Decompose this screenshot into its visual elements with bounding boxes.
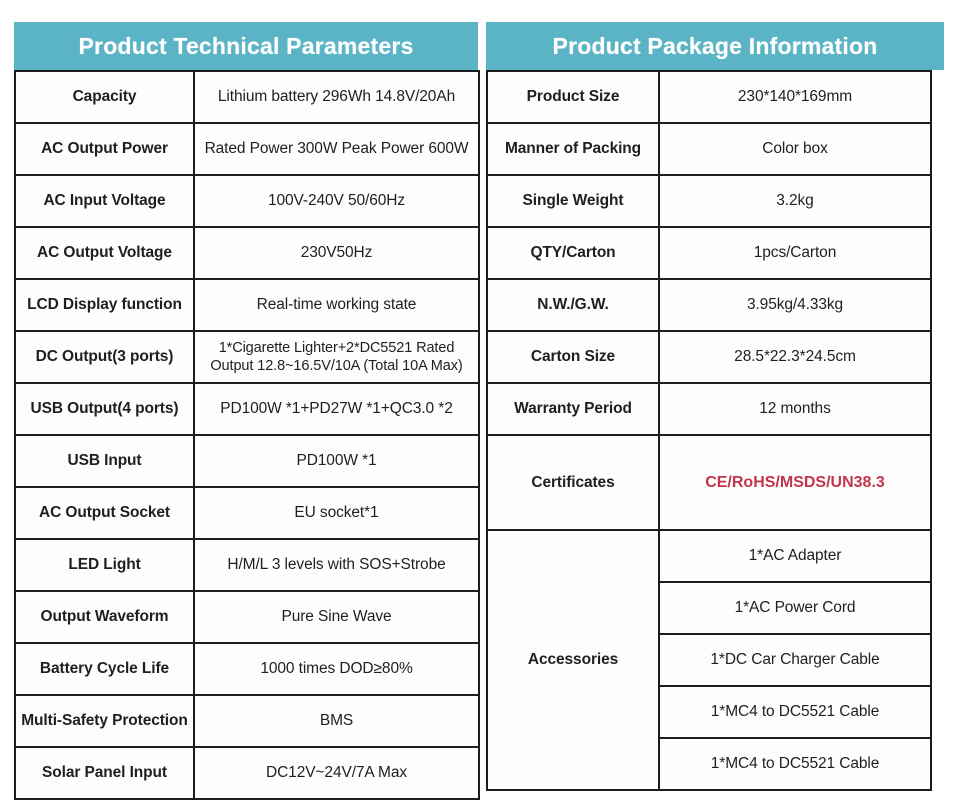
accessory-row: Accessories1*AC Adapter bbox=[487, 530, 931, 582]
table-row: USB Output(4 ports)PD100W *1+PD27W *1+QC… bbox=[15, 383, 479, 435]
table-row: Manner of PackingColor box bbox=[487, 123, 931, 175]
parameter-value: PD100W *1+PD27W *1+QC3.0 *2 bbox=[194, 383, 479, 435]
parameter-value: 1000 times DOD≥80% bbox=[194, 643, 479, 695]
package-value: 230*140*169mm bbox=[659, 71, 931, 123]
table-row: AC Input Voltage100V-240V 50/60Hz bbox=[15, 175, 479, 227]
package-label: Single Weight bbox=[487, 175, 659, 227]
parameter-label: AC Output Socket bbox=[15, 487, 194, 539]
table-row: AC Output Voltage230V50Hz bbox=[15, 227, 479, 279]
parameter-label: DC Output(3 ports) bbox=[15, 331, 194, 383]
accessory-item: 1*AC Power Cord bbox=[659, 582, 931, 634]
package-value: 1pcs/Carton bbox=[659, 227, 931, 279]
table-row: CapacityLithium battery 296Wh 14.8V/20Ah bbox=[15, 71, 479, 123]
table-row: Output WaveformPure Sine Wave bbox=[15, 591, 479, 643]
package-value: Color box bbox=[659, 123, 931, 175]
parameter-label: AC Output Voltage bbox=[15, 227, 194, 279]
accessory-item: 1*MC4 to DC5521 Cable bbox=[659, 686, 931, 738]
parameter-label: LED Light bbox=[15, 539, 194, 591]
parameter-value: EU socket*1 bbox=[194, 487, 479, 539]
parameter-value: Real-time working state bbox=[194, 279, 479, 331]
table-row: Carton Size28.5*22.3*24.5cm bbox=[487, 331, 931, 383]
accessory-item: 1*MC4 to DC5521 Cable bbox=[659, 738, 931, 790]
package-value: 3.2kg bbox=[659, 175, 931, 227]
certificates-label: Certificates bbox=[487, 435, 659, 530]
header-band: Product Technical Parameters Product Pac… bbox=[14, 22, 944, 70]
parameter-label: USB Output(4 ports) bbox=[15, 383, 194, 435]
table-row: LCD Display functionReal-time working st… bbox=[15, 279, 479, 331]
package-information-table: Product Size230*140*169mmManner of Packi… bbox=[486, 70, 932, 791]
parameter-label: LCD Display function bbox=[15, 279, 194, 331]
table-row: LED LightH/M/L 3 levels with SOS+Strobe bbox=[15, 539, 479, 591]
package-value: 28.5*22.3*24.5cm bbox=[659, 331, 931, 383]
accessory-item: 1*AC Adapter bbox=[659, 530, 931, 582]
table-row: Multi-Safety ProtectionBMS bbox=[15, 695, 479, 747]
parameter-value: 230V50Hz bbox=[194, 227, 479, 279]
table-row: Solar Panel InputDC12V~24V/7A Max bbox=[15, 747, 479, 799]
parameter-label: USB Input bbox=[15, 435, 194, 487]
parameter-label: Multi-Safety Protection bbox=[15, 695, 194, 747]
parameter-value: H/M/L 3 levels with SOS+Strobe bbox=[194, 539, 479, 591]
table-row: Product Size230*140*169mm bbox=[487, 71, 931, 123]
table-row: AC Output PowerRated Power 300W Peak Pow… bbox=[15, 123, 479, 175]
certificates-row: CertificatesCE/RoHS/MSDS/UN38.3 bbox=[487, 435, 931, 530]
package-label: QTY/Carton bbox=[487, 227, 659, 279]
parameter-value: 100V-240V 50/60Hz bbox=[194, 175, 479, 227]
package-label: Warranty Period bbox=[487, 383, 659, 435]
package-value: 3.95kg/4.33kg bbox=[659, 279, 931, 331]
table-row: USB InputPD100W *1 bbox=[15, 435, 479, 487]
accessories-label: Accessories bbox=[487, 530, 659, 790]
certificates-value: CE/RoHS/MSDS/UN38.3 bbox=[659, 435, 931, 530]
table-row: Single Weight3.2kg bbox=[487, 175, 931, 227]
parameter-label: Capacity bbox=[15, 71, 194, 123]
header-divider bbox=[478, 22, 486, 70]
spec-sheet: Product Technical Parameters Product Pac… bbox=[0, 0, 957, 812]
parameter-value: DC12V~24V/7A Max bbox=[194, 747, 479, 799]
package-information-title: Product Package Information bbox=[486, 22, 944, 70]
parameter-label: Output Waveform bbox=[15, 591, 194, 643]
parameter-value: Rated Power 300W Peak Power 600W bbox=[194, 123, 479, 175]
table-row: Battery Cycle Life1000 times DOD≥80% bbox=[15, 643, 479, 695]
parameter-label: Solar Panel Input bbox=[15, 747, 194, 799]
parameter-label: AC Output Power bbox=[15, 123, 194, 175]
accessory-item: 1*DC Car Charger Cable bbox=[659, 634, 931, 686]
parameter-label: AC Input Voltage bbox=[15, 175, 194, 227]
parameter-value: 1*Cigarette Lighter+2*DC5521 Rated Outpu… bbox=[194, 331, 479, 383]
table-row: Warranty Period12 months bbox=[487, 383, 931, 435]
package-label: Product Size bbox=[487, 71, 659, 123]
technical-parameters-title: Product Technical Parameters bbox=[14, 22, 478, 70]
parameter-value: PD100W *1 bbox=[194, 435, 479, 487]
technical-parameters-table: CapacityLithium battery 296Wh 14.8V/20Ah… bbox=[14, 70, 480, 800]
package-value: 12 months bbox=[659, 383, 931, 435]
package-label: Carton Size bbox=[487, 331, 659, 383]
table-row: QTY/Carton1pcs/Carton bbox=[487, 227, 931, 279]
parameter-value: BMS bbox=[194, 695, 479, 747]
parameter-value: Pure Sine Wave bbox=[194, 591, 479, 643]
package-label: Manner of Packing bbox=[487, 123, 659, 175]
package-label: N.W./G.W. bbox=[487, 279, 659, 331]
table-row: AC Output SocketEU socket*1 bbox=[15, 487, 479, 539]
table-row: DC Output(3 ports)1*Cigarette Lighter+2*… bbox=[15, 331, 479, 383]
parameter-value: Lithium battery 296Wh 14.8V/20Ah bbox=[194, 71, 479, 123]
table-row: N.W./G.W.3.95kg/4.33kg bbox=[487, 279, 931, 331]
parameter-label: Battery Cycle Life bbox=[15, 643, 194, 695]
